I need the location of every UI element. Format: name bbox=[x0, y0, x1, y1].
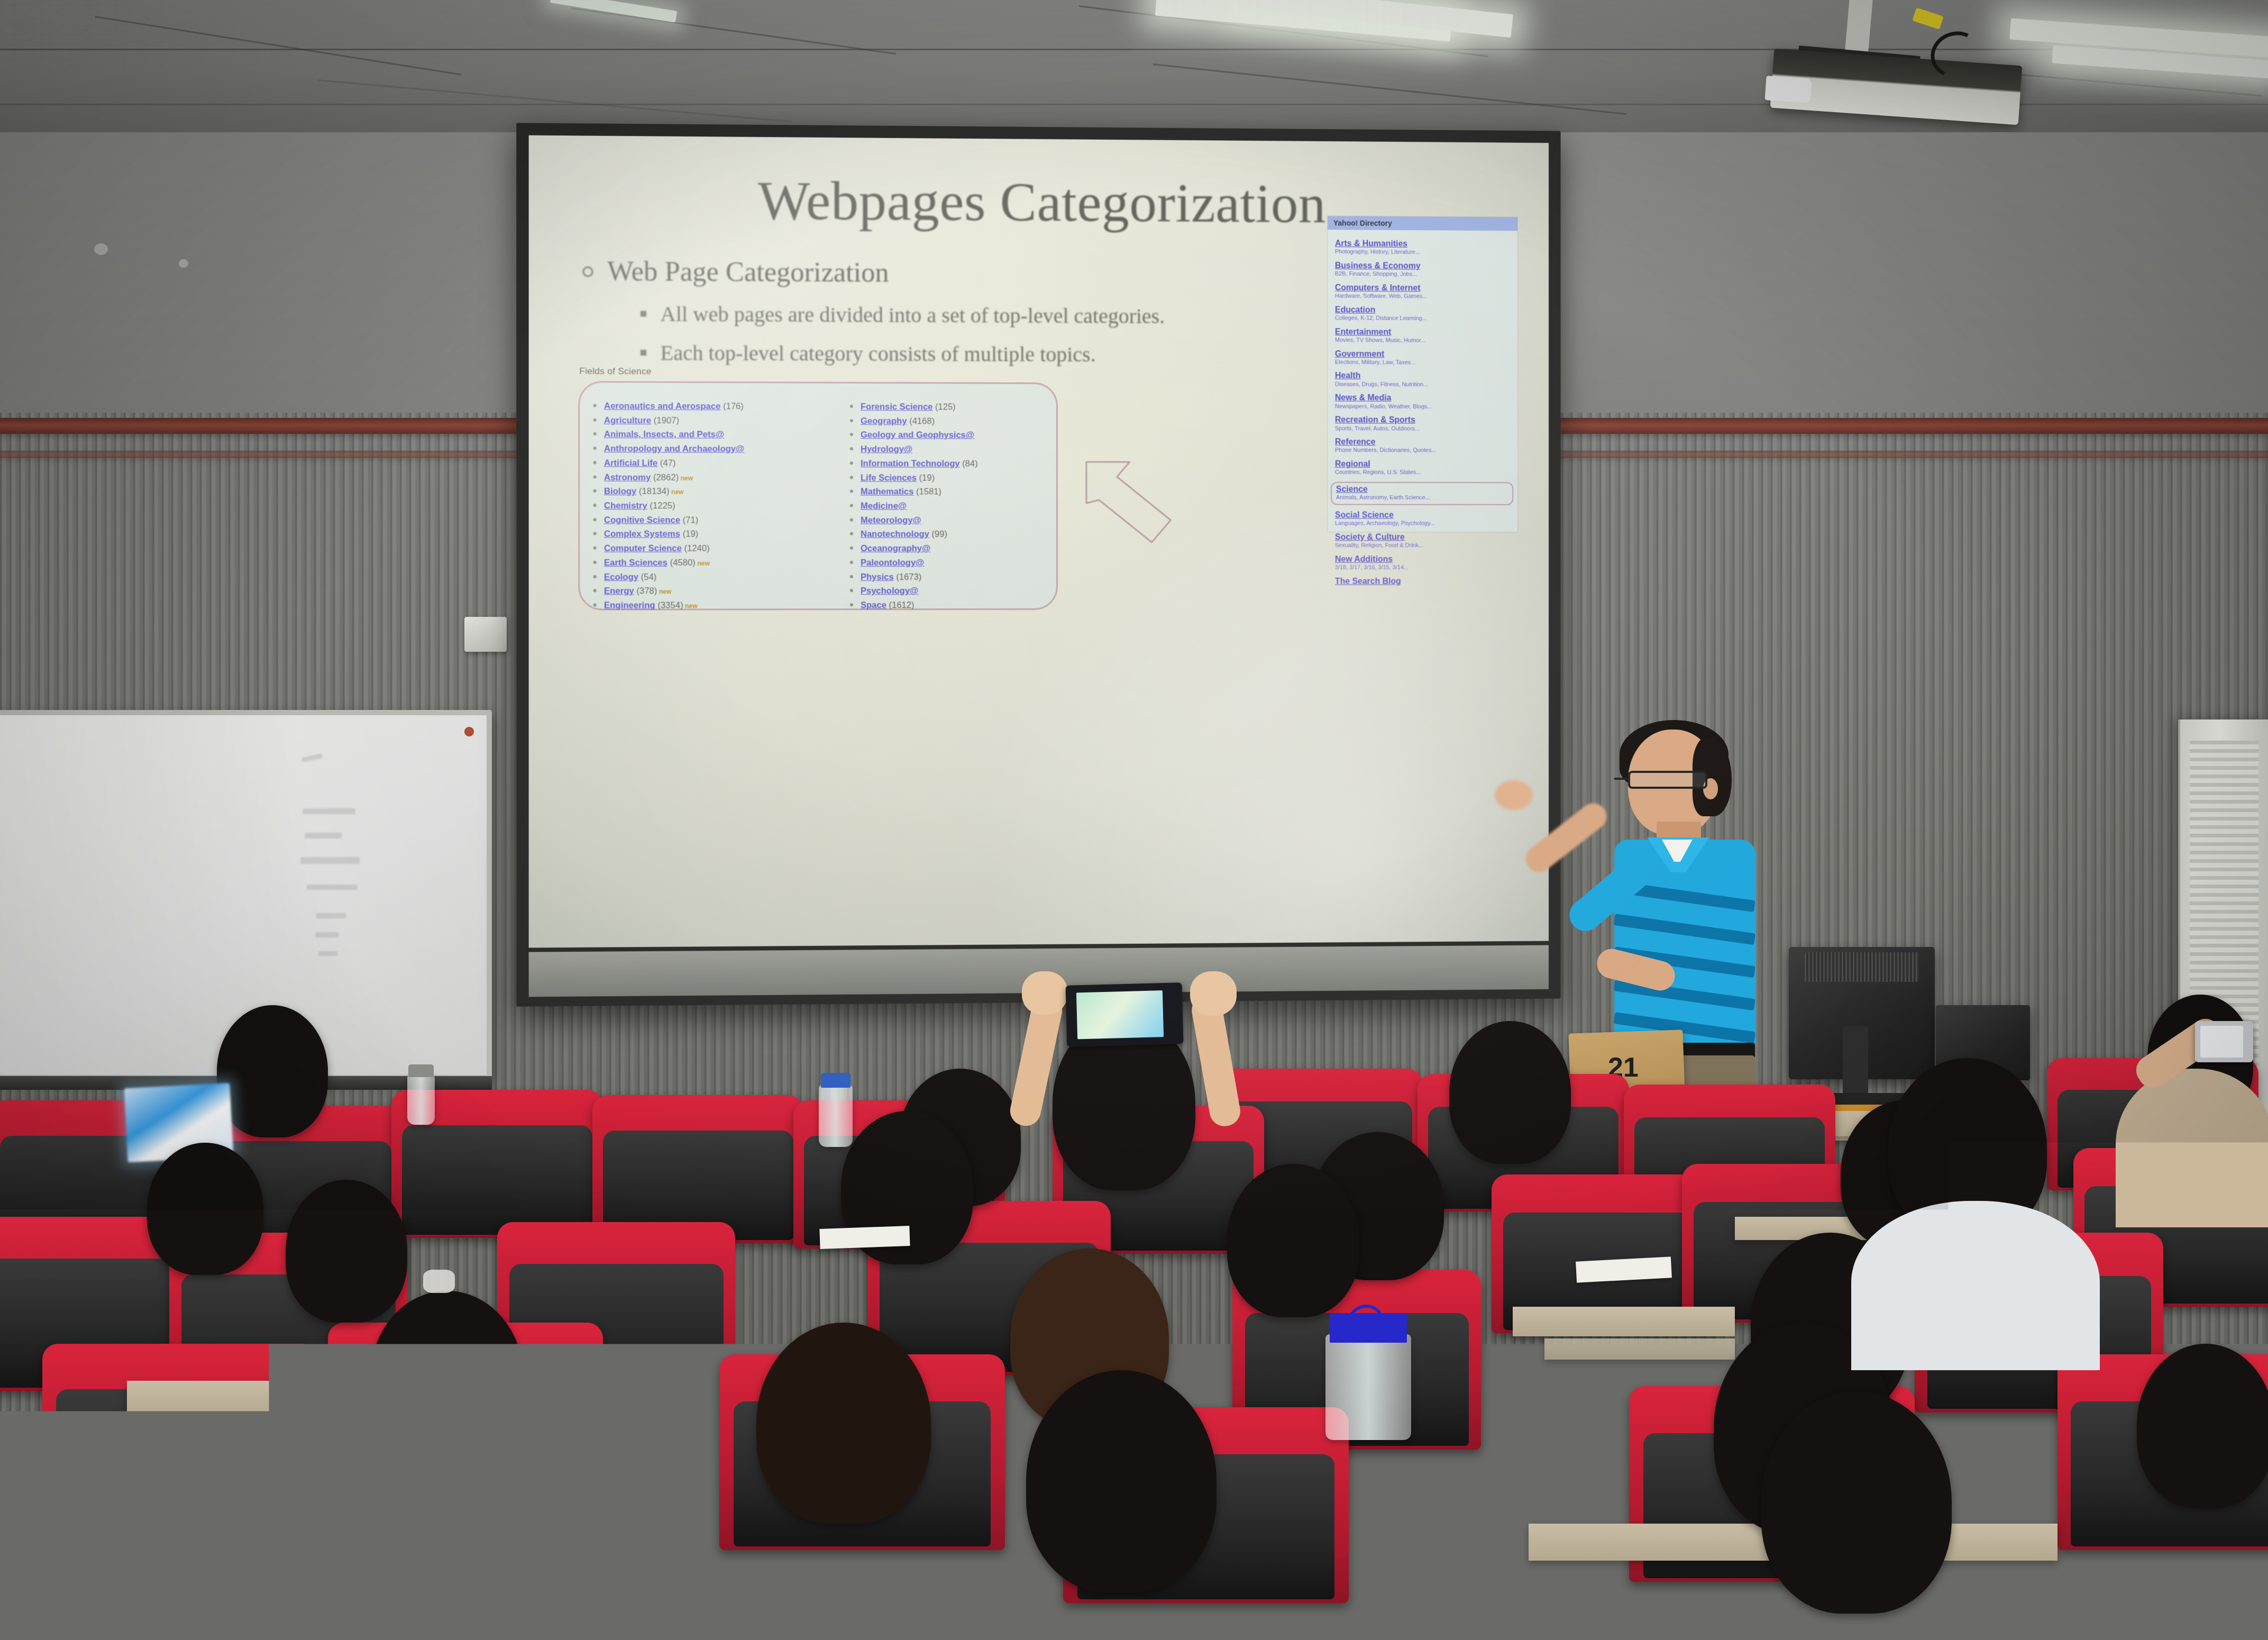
bullet-dot-icon bbox=[850, 546, 853, 550]
fields-of-science-link[interactable]: Geography bbox=[861, 416, 907, 426]
yahoo-directory-title: Yahoo! Directory bbox=[1328, 216, 1517, 231]
new-badge: new bbox=[670, 488, 684, 496]
smartphone-camera[interactable] bbox=[1066, 982, 1184, 1047]
fields-of-science-count: (1907) bbox=[651, 416, 679, 425]
yahoo-directory-subcategories[interactable]: Animals, Astronomy, Earth Science... bbox=[1336, 495, 1508, 502]
fields-of-science-count: (1673) bbox=[894, 572, 922, 582]
fields-of-science-item[interactable]: Artificial Life (47) bbox=[593, 456, 786, 471]
projector-lens bbox=[1765, 76, 1812, 103]
yahoo-directory-subcategories[interactable]: Sexuality, Religion, Food & Drink... bbox=[1335, 542, 1511, 549]
bullet-dot-icon bbox=[850, 504, 853, 507]
yahoo-directory-category[interactable]: The Search Blog bbox=[1335, 577, 1511, 586]
slide-bullet-text: All web pages are divided into a set of … bbox=[660, 302, 1165, 329]
yahoo-directory-subcategories[interactable]: Movies, TV Shows, Music, Humor... bbox=[1335, 337, 1511, 344]
bullet-dot-icon bbox=[850, 419, 853, 422]
yahoo-directory-category-link[interactable]: New Additions bbox=[1335, 555, 1511, 564]
bullet-dot-icon bbox=[850, 476, 853, 479]
fields-of-science-link[interactable]: Oceanography@ bbox=[861, 544, 930, 553]
fields-of-science-item[interactable]: Geology and Geophysics@ bbox=[850, 429, 1041, 443]
fields-of-science-item[interactable]: Complex Systems (19) bbox=[593, 527, 786, 542]
fields-of-science-link[interactable]: Cognitive Science bbox=[604, 515, 680, 525]
fields-of-science-count: (4168) bbox=[907, 416, 935, 426]
fields-of-science-link[interactable]: Nanotechnology bbox=[861, 530, 929, 539]
fields-of-science-count: (18134) bbox=[636, 487, 669, 496]
yahoo-directory-category-link[interactable]: Entertainment bbox=[1335, 327, 1511, 338]
fields-of-science-item[interactable]: Biology (18134) new bbox=[593, 485, 786, 499]
fields-of-science-item[interactable]: Computer Science (1240) bbox=[593, 542, 786, 556]
fields-of-science-link[interactable]: Information Technology bbox=[861, 459, 960, 468]
fields-of-science-columns: Aeronautics and Aerospace (176)Agricultu… bbox=[593, 399, 1051, 613]
new-badge: new bbox=[679, 475, 693, 482]
fields-of-science-count: (84) bbox=[960, 459, 978, 469]
square-bullet-icon bbox=[641, 311, 646, 317]
new-badge: new bbox=[683, 602, 698, 609]
yahoo-directory-list: Arts & HumanitiesPhotography, History, L… bbox=[1328, 230, 1517, 586]
yahoo-directory-category-link[interactable]: The Search Blog bbox=[1335, 577, 1401, 586]
bullet-dot-icon bbox=[593, 504, 597, 507]
fields-of-science-count: (378) bbox=[634, 587, 657, 596]
audience-head bbox=[217, 1005, 328, 1137]
whiteboard-magnet bbox=[464, 727, 474, 736]
fields-of-science-count: (99) bbox=[929, 530, 947, 539]
fields-of-science-link[interactable]: Artificial Life bbox=[604, 458, 657, 468]
fields-of-science-item[interactable]: Energy (378) new bbox=[593, 585, 786, 599]
water-bottle-cap bbox=[821, 1073, 850, 1088]
bullet-dot-icon bbox=[593, 432, 597, 435]
water-bottle-strap bbox=[1348, 1305, 1385, 1342]
fields-of-science-link[interactable]: Physics bbox=[861, 572, 894, 582]
yahoo-directory-category-link[interactable]: Science bbox=[1336, 485, 1508, 495]
fields-of-science-link[interactable]: Psychology@ bbox=[861, 586, 918, 596]
fields-of-science-link[interactable]: Life Sciences bbox=[861, 473, 917, 482]
yahoo-directory-subcategories[interactable]: Countries, Regions, U.S. States... bbox=[1335, 469, 1511, 476]
fields-of-science-count: (2862) bbox=[651, 472, 679, 482]
bullet-dot-icon bbox=[850, 461, 853, 464]
bullet-dot-icon bbox=[593, 532, 597, 535]
yahoo-directory-subcategories[interactable]: 3/18, 3/17, 3/16, 3/15, 3/14... bbox=[1335, 564, 1511, 571]
fields-of-science-count: (1240) bbox=[682, 544, 710, 553]
fields-of-science-count: (4580) bbox=[667, 558, 696, 568]
theater-seat[interactable] bbox=[42, 1344, 317, 1534]
bullet-dot-icon bbox=[850, 433, 853, 436]
bullet-dot-icon bbox=[593, 575, 597, 578]
yahoo-directory-category-link[interactable]: Business & Economy bbox=[1335, 261, 1511, 271]
yahoo-directory-subcategories[interactable]: Colleges, K-12, Distance Learning... bbox=[1335, 315, 1511, 322]
fields-of-science-item[interactable]: Mathematics (1581) bbox=[850, 485, 1041, 499]
water-bottle[interactable] bbox=[407, 1074, 435, 1125]
audience-shoulders-white-shirt bbox=[1851, 1201, 2100, 1370]
theater-seat[interactable] bbox=[592, 1095, 804, 1243]
projected-slide: Webpages Categorization Web Page Categor… bbox=[529, 135, 1549, 948]
water-bottle[interactable] bbox=[1325, 1334, 1411, 1440]
hand-right bbox=[1190, 971, 1237, 1016]
audience-head bbox=[286, 1180, 407, 1323]
yahoo-directory-subcategories[interactable]: Elections, Military, Law, Taxes... bbox=[1335, 359, 1511, 367]
fields-of-science-link[interactable]: Complex Systems bbox=[604, 530, 680, 539]
bullet-dot-icon bbox=[850, 589, 853, 592]
ceiling-light bbox=[550, 0, 677, 23]
arrow-annotation-icon bbox=[1078, 452, 1183, 548]
yahoo-directory-category[interactable]: ScienceAnimals, Astronomy, Earth Science… bbox=[1331, 482, 1513, 505]
bullet-dot-icon bbox=[850, 447, 853, 450]
fields-of-science-item[interactable]: Animals, Insects, and Pets@ bbox=[593, 427, 786, 442]
bullet-dot-icon bbox=[850, 405, 853, 408]
fields-of-science-item[interactable]: Paleontology@ bbox=[850, 556, 1041, 570]
fields-of-science-link[interactable]: Anthropology and Archaeology@ bbox=[604, 444, 744, 454]
paper-sheet bbox=[819, 1226, 910, 1249]
bullet-dot-icon bbox=[850, 518, 853, 521]
fields-of-science-link[interactable]: Space bbox=[861, 600, 886, 610]
yahoo-directory-category[interactable]: EducationColleges, K-12, Distance Learni… bbox=[1335, 305, 1511, 322]
yahoo-directory-category-link[interactable]: Reference bbox=[1335, 438, 1511, 447]
fields-of-science-item[interactable]: Space (1612) bbox=[850, 598, 1041, 613]
fields-of-science-item[interactable]: Anthropology and Archaeology@ bbox=[593, 442, 786, 457]
yahoo-directory-category[interactable]: GovernmentElections, Military, Law, Taxe… bbox=[1335, 350, 1511, 367]
fields-of-science-column-left: Aeronautics and Aerospace (176)Agricultu… bbox=[593, 399, 786, 613]
yahoo-directory-subcategories[interactable]: Diseases, Drugs, Fitness, Nutrition... bbox=[1335, 381, 1511, 388]
fields-of-science-item[interactable]: Physics (1673) bbox=[850, 570, 1041, 585]
fields-of-science-count: (1225) bbox=[647, 501, 675, 511]
fields-of-science-item[interactable]: Aeronautics and Aerospace (176) bbox=[593, 399, 786, 414]
audience-head-foreground bbox=[402, 1428, 587, 1640]
fields-of-science-count: (3354) bbox=[655, 600, 683, 610]
fields-of-science-count: (71) bbox=[680, 515, 698, 525]
bullet-dot-icon bbox=[850, 490, 853, 493]
bullet-dot-icon bbox=[593, 404, 597, 407]
fields-of-science-count: (1581) bbox=[913, 487, 941, 497]
yahoo-directory-subcategories[interactable]: B2B, Finance, Shopping, Jobs... bbox=[1335, 271, 1511, 278]
camera-screen bbox=[2200, 1026, 2243, 1057]
yahoo-directory-category[interactable]: Business & EconomyB2B, Finance, Shopping… bbox=[1335, 261, 1511, 278]
fields-of-science-item[interactable]: Meteorology@ bbox=[850, 513, 1041, 527]
fields-of-science-column-right: Forensic Science (125)Geography (4168)Ge… bbox=[850, 400, 1041, 613]
yahoo-directory-category[interactable]: ReferencePhone Numbers, Dictionaries, Qu… bbox=[1335, 438, 1511, 454]
fields-of-science-item[interactable]: Medicine@ bbox=[850, 499, 1041, 514]
yahoo-directory-category[interactable]: Computers & InternetHardware, Software, … bbox=[1335, 284, 1511, 300]
water-bottle[interactable] bbox=[819, 1085, 853, 1147]
audience-shoulders-beige bbox=[2116, 1069, 2268, 1227]
fields-of-science-link[interactable]: Forensic Science bbox=[861, 402, 932, 412]
projector-connector bbox=[1912, 7, 1943, 29]
new-badge: new bbox=[696, 560, 710, 567]
student-desk bbox=[1513, 1307, 1735, 1336]
presenter-glasses bbox=[1628, 771, 1707, 789]
fields-of-science-link[interactable]: Agriculture bbox=[604, 416, 651, 425]
fields-of-science-count: (47) bbox=[657, 459, 675, 468]
yahoo-directory-subcategories[interactable]: Hardware, Software, Web, Games... bbox=[1335, 293, 1511, 300]
fields-of-science-link[interactable]: Medicine@ bbox=[861, 502, 907, 511]
fields-of-science-count: (176) bbox=[720, 402, 744, 411]
smartphone-screen bbox=[1076, 990, 1164, 1039]
yahoo-directory-category-link[interactable]: Social Science bbox=[1335, 511, 1511, 520]
slide-bullet-text: Each top-level category consists of mult… bbox=[660, 340, 1095, 367]
fields-of-science-link[interactable]: Aeronautics and Aerospace bbox=[604, 402, 720, 412]
yahoo-directory-category[interactable]: Social ScienceLanguages, Archaeology, Ps… bbox=[1335, 511, 1511, 527]
fields-of-science-item[interactable]: Forensic Science (125) bbox=[850, 400, 1041, 415]
yahoo-directory-category[interactable]: Recreation & SportsSports, Travel, Autos… bbox=[1335, 416, 1511, 433]
yahoo-directory-category-link[interactable]: Arts & Humanities bbox=[1335, 239, 1511, 249]
fields-of-science-item[interactable]: Geography (4168) bbox=[850, 414, 1041, 429]
bullet-dot-icon bbox=[593, 447, 597, 450]
yahoo-directory-category[interactable]: Arts & HumanitiesPhotography, History, L… bbox=[1335, 239, 1511, 257]
slide-bullet-text: Web Page Categorization bbox=[607, 256, 889, 289]
fields-of-science-link[interactable]: Earth Sciences bbox=[604, 558, 667, 568]
fields-of-science-count: (125) bbox=[932, 402, 955, 412]
bullet-dot-icon bbox=[593, 518, 597, 521]
yahoo-directory-subcategories[interactable]: Phone Numbers, Dictionaries, Quotes... bbox=[1335, 448, 1511, 454]
fields-of-science-link[interactable]: Astronomy bbox=[604, 472, 651, 482]
fields-of-science-link[interactable]: Mathematics bbox=[861, 487, 913, 497]
bullet-dot-icon bbox=[593, 475, 597, 478]
circle-bullet-icon bbox=[582, 266, 593, 277]
fields-of-science-count: (1612) bbox=[886, 600, 914, 610]
yahoo-directory-panel: Yahoo! Directory Arts & HumanitiesPhotog… bbox=[1328, 216, 1517, 532]
fields-of-science-item[interactable]: Ecology (54) bbox=[593, 570, 786, 585]
fields-of-science-link[interactable]: Paleontology@ bbox=[861, 558, 924, 568]
fields-of-science-item[interactable]: Chemistry (1225) bbox=[593, 499, 786, 513]
bullet-dot-icon bbox=[593, 461, 597, 464]
yahoo-directory-category[interactable]: HealthDiseases, Drugs, Fitness, Nutritio… bbox=[1335, 371, 1511, 388]
fields-of-science-link[interactable]: Computer Science bbox=[604, 544, 682, 553]
fields-of-science-item[interactable]: Cognitive Science (71) bbox=[593, 513, 786, 527]
audience-head bbox=[756, 1323, 931, 1524]
hair-clip bbox=[423, 1270, 455, 1293]
yahoo-directory-subcategories[interactable]: Newspapers, Radio, Weather, Blogs... bbox=[1335, 403, 1511, 410]
presenter-hand bbox=[1495, 780, 1533, 810]
fields-of-science-link[interactable]: Engineering bbox=[604, 601, 655, 611]
square-bullet-icon bbox=[641, 350, 646, 356]
yahoo-directory-category-link[interactable]: Recreation & Sports bbox=[1335, 416, 1511, 425]
bullet-dot-icon bbox=[593, 418, 597, 422]
fields-of-science-item[interactable]: Earth Sciences (4580) new bbox=[593, 556, 786, 570]
yahoo-directory-category[interactable]: RegionalCountries, Regions, U.S. States.… bbox=[1335, 460, 1511, 476]
bullet-dot-icon bbox=[593, 546, 597, 550]
fields-of-science-item[interactable]: Nanotechnology (99) bbox=[850, 527, 1041, 542]
audience-head bbox=[1227, 1164, 1359, 1317]
fields-of-science-item[interactable]: Psychology@ bbox=[850, 584, 1041, 598]
fields-of-science-item[interactable]: Hydrology@ bbox=[850, 442, 1041, 457]
bullet-dot-icon bbox=[850, 575, 853, 578]
bullet-dot-icon bbox=[850, 532, 853, 535]
yahoo-directory-category-link[interactable]: Society & Culture bbox=[1335, 533, 1511, 542]
audience-head bbox=[1449, 1021, 1571, 1164]
fields-of-science-link[interactable]: Geology and Geophysics@ bbox=[861, 431, 974, 441]
wall-mark bbox=[179, 259, 188, 268]
bullet-dot-icon bbox=[593, 561, 597, 564]
fields-of-science-link[interactable]: Animals, Insects, and Pets@ bbox=[604, 430, 724, 440]
wall-mark bbox=[94, 243, 108, 255]
fields-of-science-count: (19) bbox=[917, 473, 935, 482]
water-bottle-cap bbox=[408, 1064, 434, 1077]
fields-of-science-count: (54) bbox=[638, 572, 656, 582]
fields-of-science-item[interactable]: Agriculture (1907) bbox=[593, 413, 786, 428]
yahoo-directory-category[interactable]: New Additions3/18, 3/17, 3/16, 3/15, 3/1… bbox=[1335, 555, 1511, 571]
yahoo-directory-category-link[interactable]: Computers & Internet bbox=[1335, 284, 1511, 294]
audience-head bbox=[147, 1143, 263, 1275]
fields-of-science-item[interactable]: Life Sciences (19) bbox=[850, 471, 1041, 485]
ceiling bbox=[0, 0, 2268, 132]
fields-of-science-item[interactable]: Astronomy (2862) new bbox=[593, 470, 786, 485]
fields-of-science-count: (19) bbox=[680, 530, 698, 539]
yahoo-directory-subcategories[interactable]: Sports, Travel, Autos, Outdoors... bbox=[1335, 425, 1511, 432]
fields-of-science-link[interactable]: Meteorology@ bbox=[861, 515, 921, 525]
fields-of-science-item[interactable]: Information Technology (84) bbox=[850, 457, 1041, 471]
new-badge: new bbox=[657, 588, 671, 596]
audience-head-foreground bbox=[1761, 1391, 1952, 1614]
monitor-stand bbox=[1843, 1026, 1868, 1100]
fields-of-science-link[interactable]: Ecology bbox=[604, 572, 638, 582]
wall-speaker-box bbox=[464, 617, 507, 652]
fields-of-science-heading: Fields of Science bbox=[579, 366, 652, 377]
yahoo-directory-subcategories[interactable]: Languages, Archaeology, Psychology... bbox=[1335, 521, 1511, 527]
yahoo-directory-category-link[interactable]: Government bbox=[1335, 350, 1511, 359]
paper-sheet bbox=[1195, 1258, 1275, 1279]
fields-of-science-link[interactable]: Biology bbox=[604, 487, 636, 496]
fields-of-science-link[interactable]: Energy bbox=[604, 587, 634, 596]
bullet-dot-icon bbox=[593, 604, 597, 607]
monitor-vent bbox=[1805, 952, 1919, 982]
audience-head bbox=[2137, 1344, 2268, 1508]
fields-of-science-item[interactable]: Engineering (3354) new bbox=[593, 598, 786, 613]
bullet-dot-icon bbox=[593, 489, 597, 493]
yahoo-directory-category-link[interactable]: Regional bbox=[1335, 460, 1511, 469]
yahoo-directory-category[interactable]: News & MediaNewspapers, Radio, Weather, … bbox=[1335, 394, 1511, 411]
yahoo-directory-category-link[interactable]: News & Media bbox=[1335, 394, 1511, 403]
fields-of-science-link[interactable]: Hydrology@ bbox=[861, 444, 912, 454]
yahoo-directory-subcategories[interactable]: Photography, History, Literature... bbox=[1335, 249, 1511, 256]
bullet-dot-icon bbox=[850, 603, 853, 606]
compact-camera[interactable] bbox=[2195, 1021, 2253, 1062]
audience-head-foreground bbox=[1026, 1370, 1217, 1592]
yahoo-directory-category-link[interactable]: Health bbox=[1335, 371, 1511, 381]
fields-of-science-link[interactable]: Chemistry bbox=[604, 501, 647, 511]
bullet-dot-icon bbox=[593, 589, 597, 593]
presenter-forearm bbox=[1521, 798, 1612, 877]
yahoo-directory-category[interactable]: EntertainmentMovies, TV Shows, Music, Hu… bbox=[1335, 327, 1511, 344]
fields-of-science-item[interactable]: Oceanography@ bbox=[850, 542, 1041, 556]
yahoo-directory-category[interactable]: Society & CultureSexuality, Religion, Fo… bbox=[1335, 533, 1511, 549]
bullet-dot-icon bbox=[850, 561, 853, 564]
student-desk bbox=[1544, 1338, 1735, 1360]
hand-left bbox=[1022, 971, 1067, 1015]
projection-screen: Webpages Categorization Web Page Categor… bbox=[516, 123, 1560, 1006]
yahoo-directory-category-link[interactable]: Education bbox=[1335, 305, 1511, 315]
lecture-hall-scene: Webpages Categorization Web Page Categor… bbox=[0, 0, 2268, 1507]
